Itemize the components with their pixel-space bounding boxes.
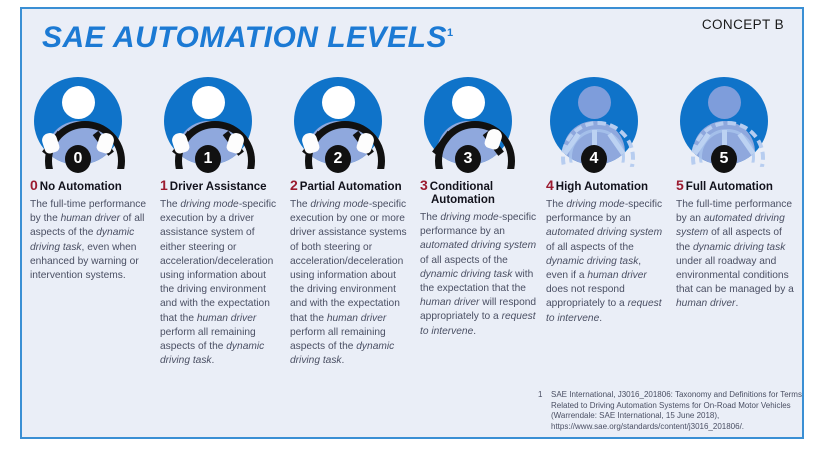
driver-hands-on-wheel-icon: 2 xyxy=(291,75,385,171)
level-description-3: The driving mode-specific performance by… xyxy=(420,211,538,339)
level-number-4: 4 xyxy=(546,177,554,193)
level-number-5: 5 xyxy=(676,177,684,193)
ghost-steering-wheel-shape: 5 xyxy=(680,77,768,165)
level-name-3-line2: Automation xyxy=(420,194,538,207)
level-badge-0: 0 xyxy=(65,145,91,173)
infographic-panel: SAE AUTOMATION LEVELS1 CONCEPT B 0 xyxy=(20,7,804,439)
driver-hands-on-wheel-icon: 0 xyxy=(31,75,125,171)
level-heading-2: 2Partial Automation xyxy=(290,179,408,194)
level-column-5: 5 5Full Automation The full-time perform… xyxy=(676,75,794,312)
steering-wheel-shape: 0 xyxy=(34,77,122,165)
level-number-3: 3 xyxy=(420,177,428,193)
level-description-0: The full-time performance by the human d… xyxy=(30,198,148,283)
page-title: SAE AUTOMATION LEVELS1 xyxy=(42,21,454,55)
level-description-1: The driving mode-specific execution by a… xyxy=(160,198,278,368)
level-name-2: Partial Automation xyxy=(300,181,402,193)
level-badge-3: 3 xyxy=(455,145,481,173)
driver-one-hand-off-wheel-icon: 3 xyxy=(421,75,515,171)
level-heading-4: 4High Automation xyxy=(546,179,664,194)
concept-label: CONCEPT B xyxy=(702,17,784,32)
footnote: 1 SAE International, J3016_201806: Taxon… xyxy=(538,390,810,432)
level-description-5: The full-time performance by an automate… xyxy=(676,198,794,312)
automated-ghost-wheel-icon: 5 xyxy=(677,75,771,171)
level-number-0: 0 xyxy=(30,177,38,193)
level-heading-0: 0No Automation xyxy=(30,179,148,194)
level-column-0: 0 0No Automation The full-time performan… xyxy=(30,75,148,283)
level-heading-5: 5Full Automation xyxy=(676,179,794,194)
level-description-2: The driving mode-specific execution by o… xyxy=(290,198,408,368)
level-heading-1: 1Driver Assistance xyxy=(160,179,278,194)
page-title-text: SAE AUTOMATION LEVELS xyxy=(42,21,447,54)
level-badge-1: 1 xyxy=(195,145,221,173)
level-name-4: High Automation xyxy=(556,181,648,193)
level-column-1: 1 1Driver Assistance The driving mode-sp… xyxy=(160,75,278,368)
steering-wheel-shape: 2 xyxy=(294,77,382,165)
level-name-5: Full Automation xyxy=(686,181,773,193)
level-badge-4: 4 xyxy=(581,145,607,173)
automated-ghost-wheel-icon: 4 xyxy=(547,75,641,171)
footnote-text: SAE International, J3016_201806: Taxonom… xyxy=(538,390,810,432)
level-name-3: Conditional xyxy=(430,181,493,193)
ghost-steering-wheel-shape: 4 xyxy=(550,77,638,165)
level-column-4: 4 4High Automation The driving mode-spec… xyxy=(546,75,664,326)
level-name-1: Driver Assistance xyxy=(170,181,267,193)
level-name-0: No Automation xyxy=(40,181,122,193)
level-column-2: 2 2Partial Automation The driving mode-s… xyxy=(290,75,408,368)
levels-row: 0 0No Automation The full-time performan… xyxy=(30,75,798,435)
level-heading-3: 3Conditional Automation xyxy=(420,179,538,207)
driver-hands-on-wheel-icon: 1 xyxy=(161,75,255,171)
level-badge-5: 5 xyxy=(711,145,737,173)
level-column-3: 3 3Conditional Automation The driving mo… xyxy=(420,75,538,339)
level-number-2: 2 xyxy=(290,177,298,193)
level-badge-2: 2 xyxy=(325,145,351,173)
level-description-4: The driving mode-specific performance by… xyxy=(546,198,664,326)
title-footnote-marker: 1 xyxy=(447,27,454,39)
steering-wheel-shape: 1 xyxy=(164,77,252,165)
steering-wheel-shape: 3 xyxy=(424,77,512,165)
level-number-1: 1 xyxy=(160,177,168,193)
footnote-marker: 1 xyxy=(538,390,542,401)
